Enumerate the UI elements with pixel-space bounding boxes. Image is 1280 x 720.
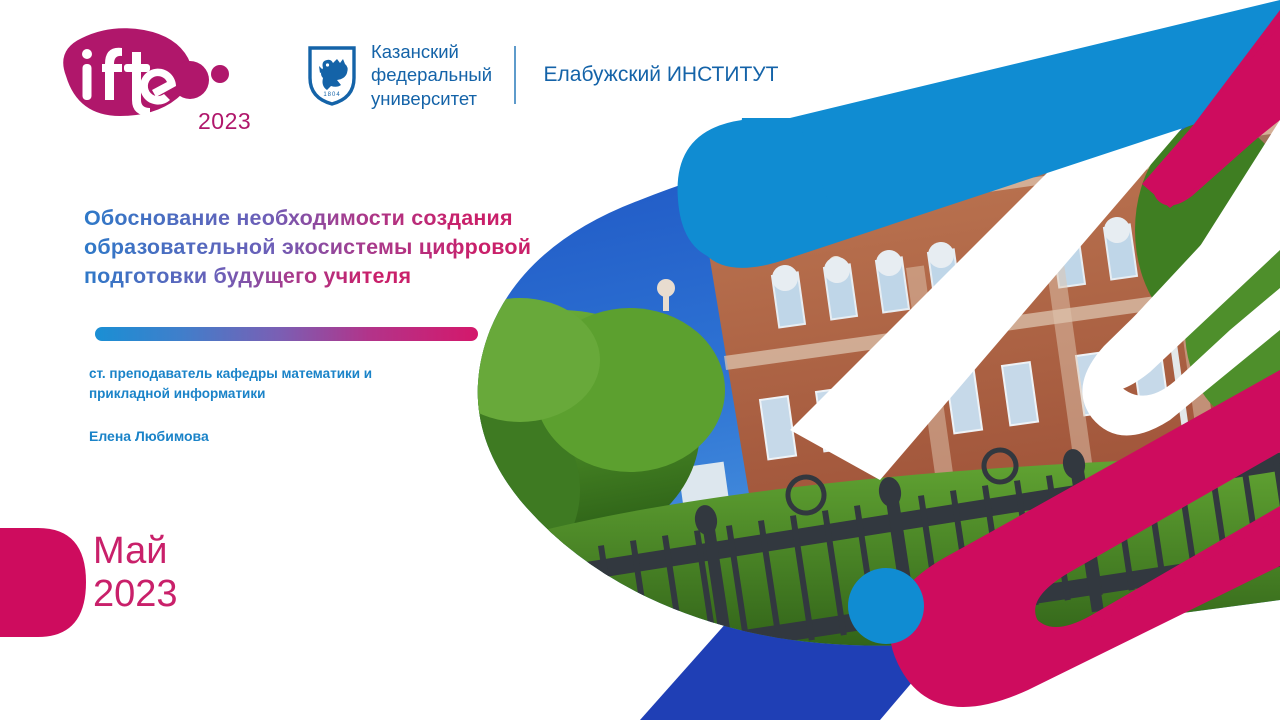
- ifte-logo-year: 2023: [198, 110, 251, 133]
- ifte-logo-mark: [63, 28, 229, 116]
- blue-accent-circle: [848, 568, 924, 644]
- speaker-name: Елена Любимова: [89, 428, 209, 444]
- kfu-crest-year: 1804: [323, 92, 340, 98]
- presentation-slide: 2023 1804 Казанский федеральный универси…: [0, 0, 1280, 720]
- slide-title: Обоснование необходимости создания образ…: [84, 204, 554, 290]
- gradient-divider-bar: [95, 327, 478, 341]
- speaker-role: ст. преподаватель кафедры математики и п…: [89, 364, 459, 403]
- slide-title-line-1: Обоснование необходимости создания: [84, 204, 513, 233]
- institute-name: Елабужский ИНСТИТУТ: [544, 63, 779, 87]
- ifte-logo: 2023: [48, 24, 238, 126]
- university-name: Казанский федеральный университет: [371, 40, 492, 110]
- slide-date: Май 2023: [93, 530, 178, 615]
- slide-title-line-2: образовательной экосистемы цифровой: [84, 233, 531, 262]
- university-logo-lockup: 1804 Казанский федеральный университет Е…: [307, 40, 778, 110]
- logo-divider: [514, 46, 516, 104]
- kfu-shield-icon: 1804: [307, 44, 357, 106]
- slide-title-line-3: подготовки будущего учителя: [84, 262, 411, 291]
- magenta-block-bottom-left: [0, 528, 86, 637]
- zilant-dragon-emblem: [319, 59, 348, 90]
